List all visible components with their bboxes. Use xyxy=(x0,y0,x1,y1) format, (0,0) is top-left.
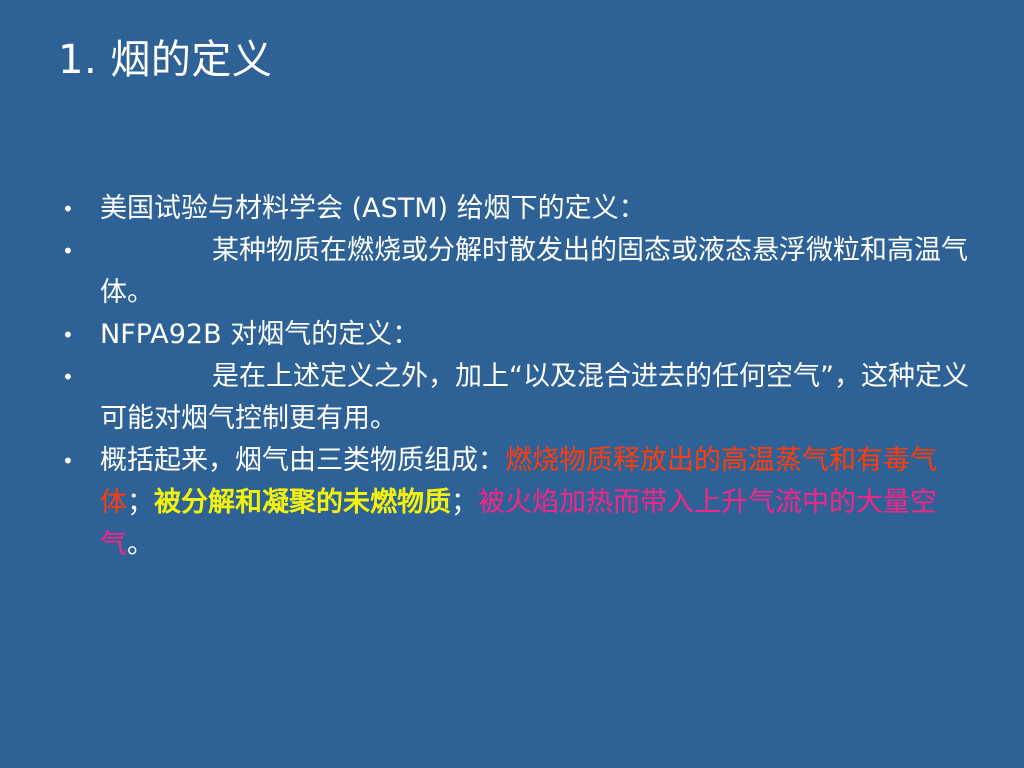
bullet-text-nfpa-heading: NFPA92B 对烟气的定义： xyxy=(100,314,976,356)
list-item[interactable]: • 美国试验与材料学会 (ASTM) 给烟下的定义： xyxy=(56,188,976,230)
summary-segment-period: 。 xyxy=(127,529,154,560)
list-item[interactable]: • 是在上述定义之外，加上“以及混合进去的任何空气”，这种定义可能对烟气控制更有… xyxy=(56,356,976,440)
slide-canvas: 1. 烟的定义 • 美国试验与材料学会 (ASTM) 给烟下的定义： • 某种物… xyxy=(0,0,1024,768)
summary-segment-sep-2: ； xyxy=(451,487,478,518)
summary-segment-unburnt: 被分解和凝聚的未燃物质 xyxy=(154,487,451,518)
bullet-point-icon: • xyxy=(56,230,100,272)
list-item[interactable]: • 某种物质在燃烧或分解时散发出的固态或液态悬浮微粒和高温气体。 xyxy=(56,230,976,314)
bullet-point-icon: • xyxy=(56,314,100,356)
bullet-text-summary: 概括起来，烟气由三类物质组成：燃烧物质释放出的高温蒸气和有毒气体；被分解和凝聚的… xyxy=(100,440,976,566)
bullet-point-icon: • xyxy=(56,440,100,482)
summary-segment-sep-1: ； xyxy=(127,487,154,518)
bullet-text-nfpa-definition: 是在上述定义之外，加上“以及混合进去的任何空气”，这种定义可能对烟气控制更有用。 xyxy=(100,356,976,440)
bullet-point-icon: • xyxy=(56,356,100,398)
summary-segment-intro: 概括起来，烟气由三类物质组成： xyxy=(100,445,505,476)
bullet-text-astm-heading: 美国试验与材料学会 (ASTM) 给烟下的定义： xyxy=(100,188,976,230)
list-item[interactable]: • 概括起来，烟气由三类物质组成：燃烧物质释放出的高温蒸气和有毒气体；被分解和凝… xyxy=(56,440,976,566)
page-title: 1. 烟的定义 xyxy=(58,36,958,84)
bullet-list: • 美国试验与材料学会 (ASTM) 给烟下的定义： • 某种物质在燃烧或分解时… xyxy=(56,188,976,566)
bullet-text-astm-definition: 某种物质在燃烧或分解时散发出的固态或液态悬浮微粒和高温气体。 xyxy=(100,230,976,314)
list-item[interactable]: • NFPA92B 对烟气的定义： xyxy=(56,314,976,356)
bullet-point-icon: • xyxy=(56,188,100,230)
bullet-text-astm-definition-content: 某种物质在燃烧或分解时散发出的固态或液态悬浮微粒和高温气体。 xyxy=(100,235,968,308)
bullet-text-nfpa-definition-content: 是在上述定义之外，加上“以及混合进去的任何空气”，这种定义可能对烟气控制更有用。 xyxy=(100,361,969,434)
